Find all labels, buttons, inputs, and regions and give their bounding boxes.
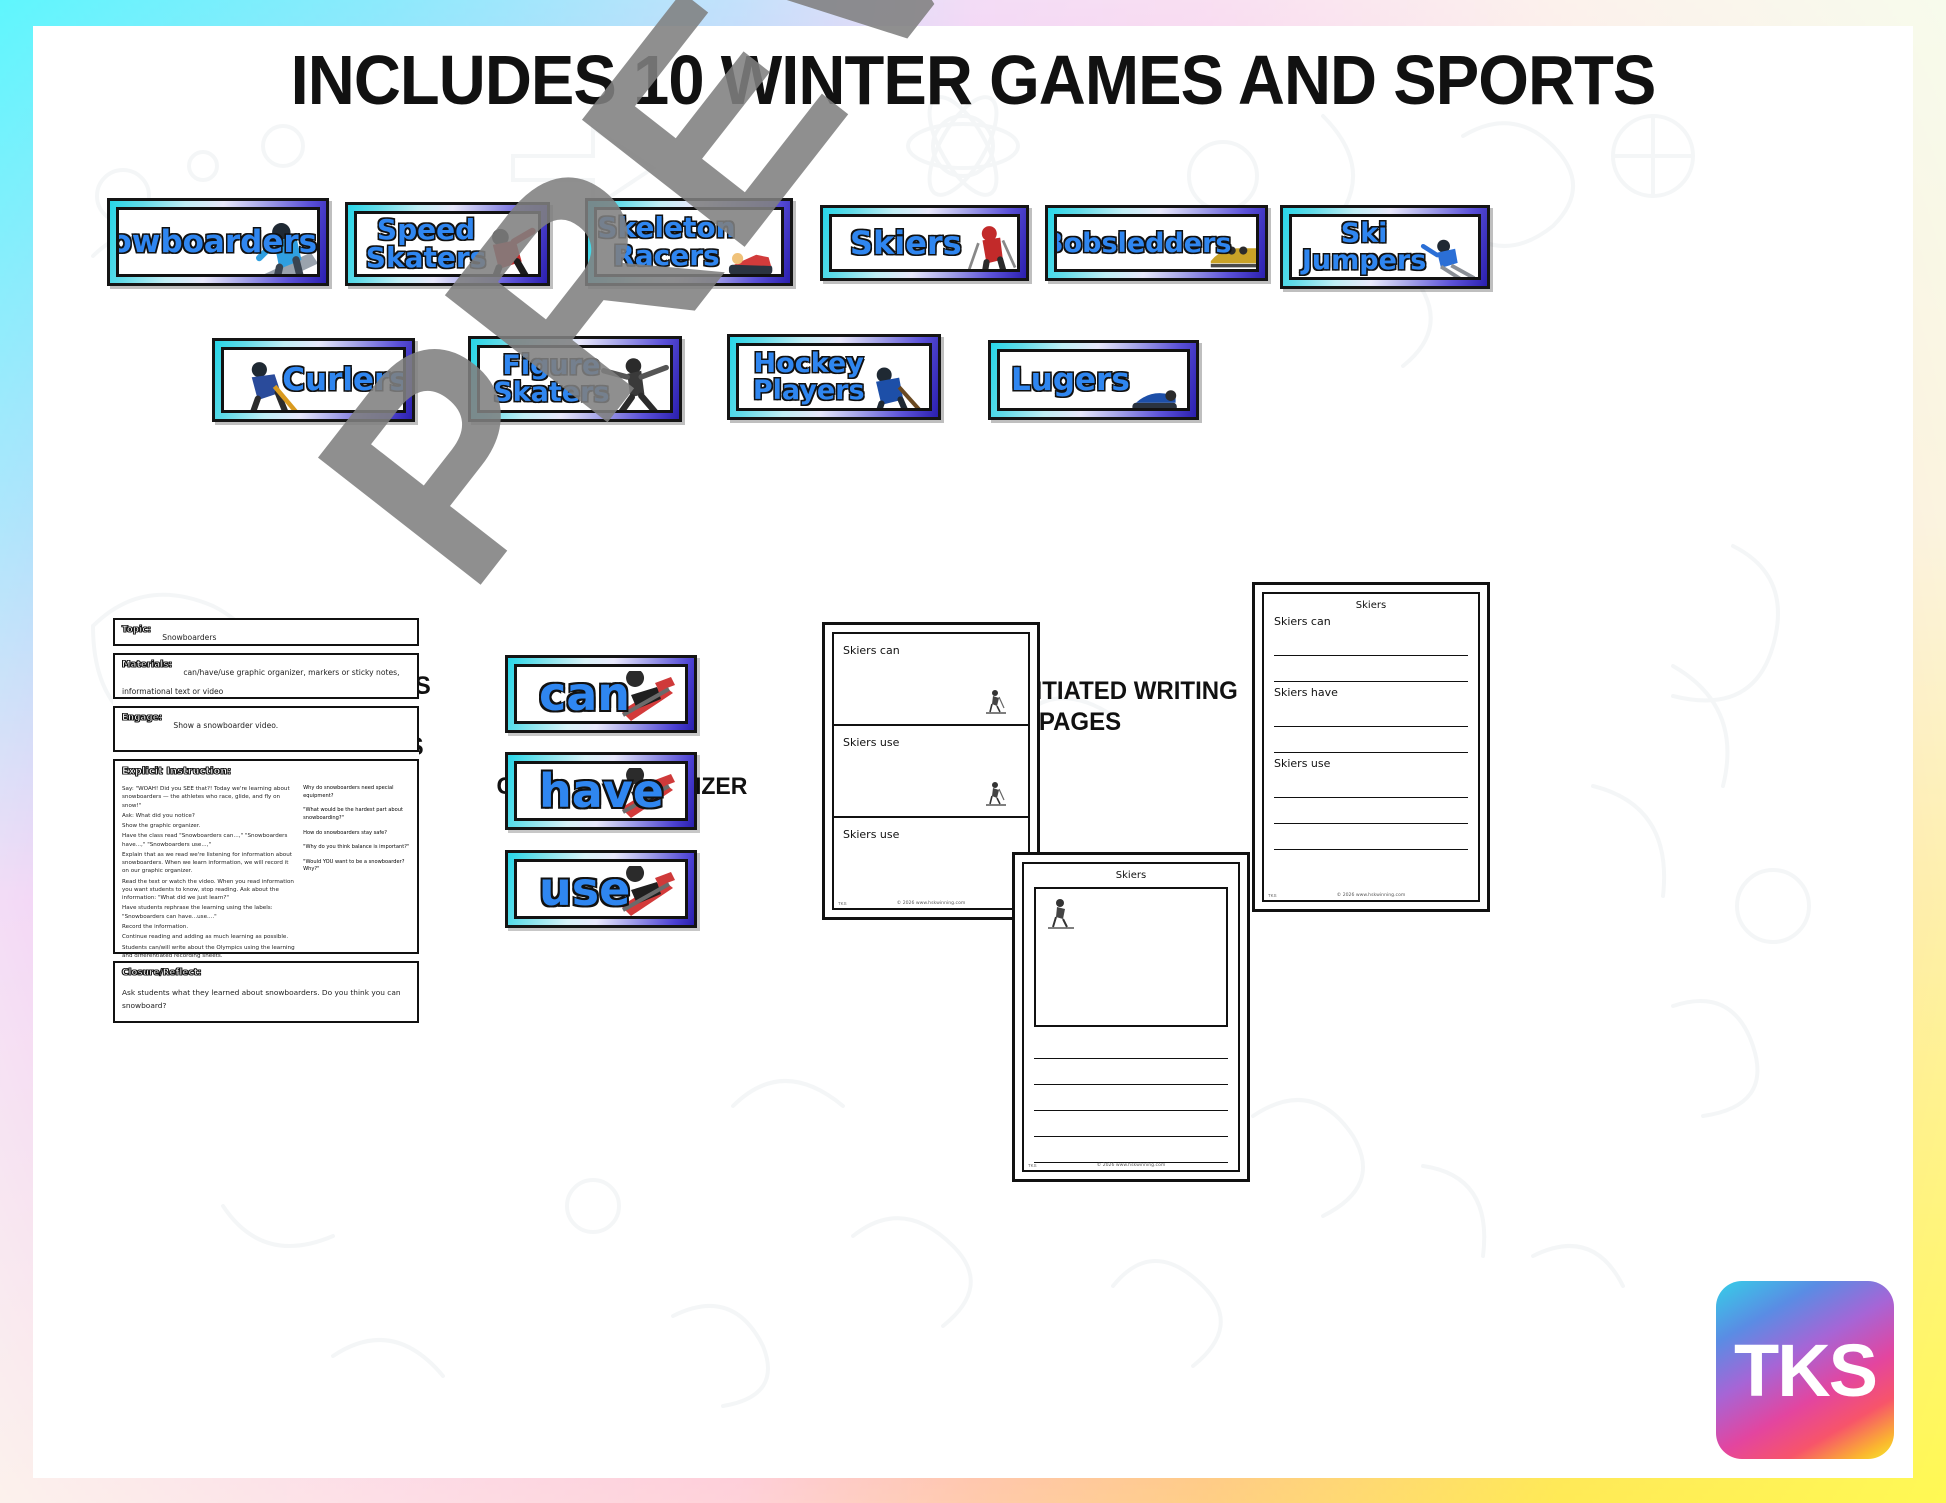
lesson-field-engage-value: Show a snowboarder video.: [173, 721, 278, 730]
writing-lines-group: [1024, 1033, 1238, 1163]
writing-line[interactable]: [1034, 1059, 1228, 1085]
lesson-explicit-heading: Explicit Instruction:: [122, 766, 231, 777]
writing-page-lined[interactable]: Skiers Skiers can Skiers have Skiers use…: [1252, 582, 1490, 912]
writing-section-label: Skiers use: [843, 828, 899, 841]
sport-card-inner: Hockey Players: [736, 343, 932, 411]
lesson-discussion-question: "Would YOU want to be a snowboarder? Why…: [303, 859, 410, 874]
writing-page-three-box[interactable]: Skiers can Skiers use Skiers use © 2026 …: [822, 622, 1040, 920]
sport-card-label: Bobsledders: [1054, 230, 1231, 257]
lesson-discussion-question: How do snowboarders stay safe?: [303, 830, 410, 838]
writing-section-label: Skiers can: [1274, 615, 1468, 628]
skier-photo: [982, 780, 1010, 808]
lesson-closure-heading: Closure/Reflect:: [122, 968, 202, 978]
lesson-discussion-questions: Why do snowboarders need special equipme…: [303, 785, 410, 962]
lesson-explicit-instruction-box: Explicit Instruction: Say: "WOAH! Did yo…: [113, 759, 419, 954]
writing-line[interactable]: [1274, 798, 1468, 824]
lesson-explicit-line: Have students rephrase the learning usin…: [122, 904, 295, 921]
lesson-discussion-question: Why do snowboarders need special equipme…: [303, 785, 410, 800]
writing-line[interactable]: [1274, 701, 1468, 727]
writing-page-footer-logo: TKS: [1028, 1163, 1037, 1168]
lesson-explicit-line: Explain that as we read we're listening …: [122, 851, 295, 876]
sport-card-inner: Figure Skaters: [477, 345, 673, 413]
writing-page-three-box-inner: Skiers can Skiers use Skiers use © 2026 …: [832, 632, 1030, 910]
sport-card-inner: Curlers: [221, 347, 406, 413]
sport-card-label: Snowboarders: [116, 227, 317, 258]
writing-line[interactable]: [1034, 1033, 1228, 1059]
organizer-label-use[interactable]: use: [505, 850, 697, 928]
lesson-explicit-line: Show the graphic organizer.: [122, 822, 295, 830]
writing-line[interactable]: [1274, 727, 1468, 753]
writing-section-label: Skiers use: [1274, 757, 1468, 770]
lesson-closure-box: Closure/Reflect: Ask students what they …: [113, 961, 419, 1023]
drawing-box[interactable]: [1034, 887, 1228, 1027]
organizer-label-have-text: have: [539, 764, 664, 818]
sport-card-label: Lugers: [1011, 365, 1130, 396]
lesson-field-topic-key: Topic:: [122, 625, 151, 635]
lesson-explicit-line: Have the class read "Snowboarders can...…: [122, 832, 295, 849]
lesson-explicit-body: Say: "WOAH! Did you SEE that?! Today we'…: [122, 785, 295, 962]
writing-page-title: Skiers: [1024, 864, 1238, 885]
writing-line[interactable]: [1034, 1085, 1228, 1111]
sport-card-label: Figure Skaters: [493, 352, 609, 406]
lesson-field-engage-key: Engage:: [122, 713, 162, 723]
sport-card-inner: Snowboarders: [116, 207, 320, 277]
writing-page-footer-logo: TKS: [1268, 893, 1277, 898]
sport-card-label: Curlers: [282, 365, 406, 396]
writing-page-footer-logo: TKS: [838, 901, 847, 906]
lesson-explicit-line: Ask: What did you notice?: [122, 812, 295, 820]
lesson-plan-sheet: Topic: Snowboarders Materials: can/have/…: [113, 618, 419, 1030]
writing-line[interactable]: [1274, 630, 1468, 656]
lesson-closure-body: Ask students what they learned about sno…: [122, 987, 410, 1012]
writing-page-footer: © 2026 www.hskwinning.com: [1264, 893, 1478, 898]
organizer-label-can[interactable]: can: [505, 655, 697, 733]
writing-section: Skiers use: [834, 726, 1028, 818]
writing-line[interactable]: [1034, 1111, 1228, 1137]
sport-card-inner: Bobsledders: [1054, 214, 1259, 272]
writing-section-label: Skiers use: [843, 736, 899, 749]
sport-card-label: Speed Skaters: [366, 216, 487, 272]
writing-line[interactable]: [1274, 656, 1468, 682]
organizer-label-use-text: use: [539, 862, 630, 916]
writing-section: Skiers can: [834, 634, 1028, 726]
organizer-label-can-inner: can: [514, 664, 688, 724]
lesson-explicit-line: Students can/will write about the Olympi…: [122, 944, 295, 961]
organizer-label-have[interactable]: have: [505, 752, 697, 830]
skier-photo: [958, 219, 1020, 272]
skier-photo: [1044, 897, 1078, 931]
writing-section: Skiers use © 2026 www.hskwinning.com TKS: [834, 818, 1028, 908]
lesson-field-materials-value: can/have/use graphic organizer, markers …: [122, 668, 400, 696]
writing-page-lined-inner: Skiers Skiers can Skiers have Skiers use…: [1262, 592, 1480, 902]
sport-card-lugers[interactable]: Lugers: [988, 340, 1199, 420]
sport-card-inner: Skeleton Racers: [594, 207, 784, 277]
tks-logo: TKS: [1716, 1281, 1894, 1459]
lesson-explicit-line: Continue reading and adding as much lear…: [122, 933, 295, 941]
sport-card-inner: Skiers: [829, 214, 1020, 272]
sport-card-figure-skaters[interactable]: Figure Skaters: [468, 336, 682, 422]
writing-page-title: Skiers: [1264, 594, 1478, 615]
lesson-discussion-question: "Why do you think balance is important?": [303, 844, 410, 852]
writing-lines-group: Skiers can Skiers have Skiers use: [1264, 615, 1478, 850]
sport-card-inner: Speed Skaters: [354, 211, 541, 277]
organizer-label-use-inner: use: [514, 859, 688, 919]
sport-card-inner: Lugers: [997, 349, 1190, 411]
sport-card-inner: Ski Jumpers: [1289, 214, 1481, 280]
lesson-field-topic-value: Snowboarders: [162, 633, 216, 642]
writing-page-footer: © 2026 www.hskwinning.com: [1024, 1163, 1238, 1168]
writing-page-footer: © 2026 www.hskwinning.com: [834, 901, 1028, 906]
writing-page-draw-write-inner: Skiers © 2026 www.hskwinning.com TKS: [1022, 862, 1240, 1172]
sport-card-skeleton-racers[interactable]: Skeleton Racers: [585, 198, 793, 286]
lesson-explicit-line: Record the information.: [122, 923, 295, 931]
writing-section-label: Skiers can: [843, 644, 900, 657]
sport-card-ski-jumpers[interactable]: Ski Jumpers: [1280, 205, 1490, 289]
lesson-explicit-line: Read the text or watch the video. When y…: [122, 878, 295, 903]
lesson-field-engage: Engage: Show a snowboarder video.: [113, 706, 419, 752]
page-title: INCLUDES 10 WINTER GAMES AND SPORTS: [68, 40, 1878, 120]
writing-page-draw-write[interactable]: Skiers © 2026 www.hskwinning.com TKS: [1012, 852, 1250, 1182]
lesson-discussion-question: "What would be the hardest part about sn…: [303, 807, 410, 822]
sport-card-speed-skaters[interactable]: Speed Skaters: [345, 202, 550, 286]
sport-card-curlers[interactable]: Curlers: [212, 338, 415, 422]
lesson-field-materials: Materials: can/have/use graphic organize…: [113, 653, 419, 699]
lesson-field-topic: Topic: Snowboarders: [113, 618, 419, 646]
lesson-explicit-line: Say: "WOAH! Did you SEE that?! Today we'…: [122, 785, 295, 810]
writing-line[interactable]: [1274, 772, 1468, 798]
sport-card-label: Hockey Players: [753, 350, 865, 404]
writing-section-label: Skiers have: [1274, 686, 1468, 699]
sport-card-label: Skeleton Racers: [597, 214, 735, 270]
writing-line[interactable]: [1274, 824, 1468, 850]
sport-card-hockey-players[interactable]: Hockey Players: [727, 334, 941, 420]
tks-logo-text: TKS: [1734, 1328, 1876, 1413]
skier-photo: [982, 688, 1010, 716]
sport-card-bobsledders[interactable]: Bobsledders: [1045, 205, 1268, 281]
organizer-label-can-text: can: [539, 667, 630, 721]
sport-card-label: Ski Jumpers: [1302, 220, 1426, 274]
lesson-field-materials-key: Materials:: [122, 660, 172, 670]
sport-card-snowboarders[interactable]: Snowboarders: [107, 198, 329, 286]
organizer-label-have-inner: have: [514, 761, 688, 821]
sport-card-skiers[interactable]: Skiers: [820, 205, 1029, 281]
sport-card-label: Skiers: [850, 227, 962, 259]
writing-line[interactable]: [1034, 1137, 1228, 1163]
